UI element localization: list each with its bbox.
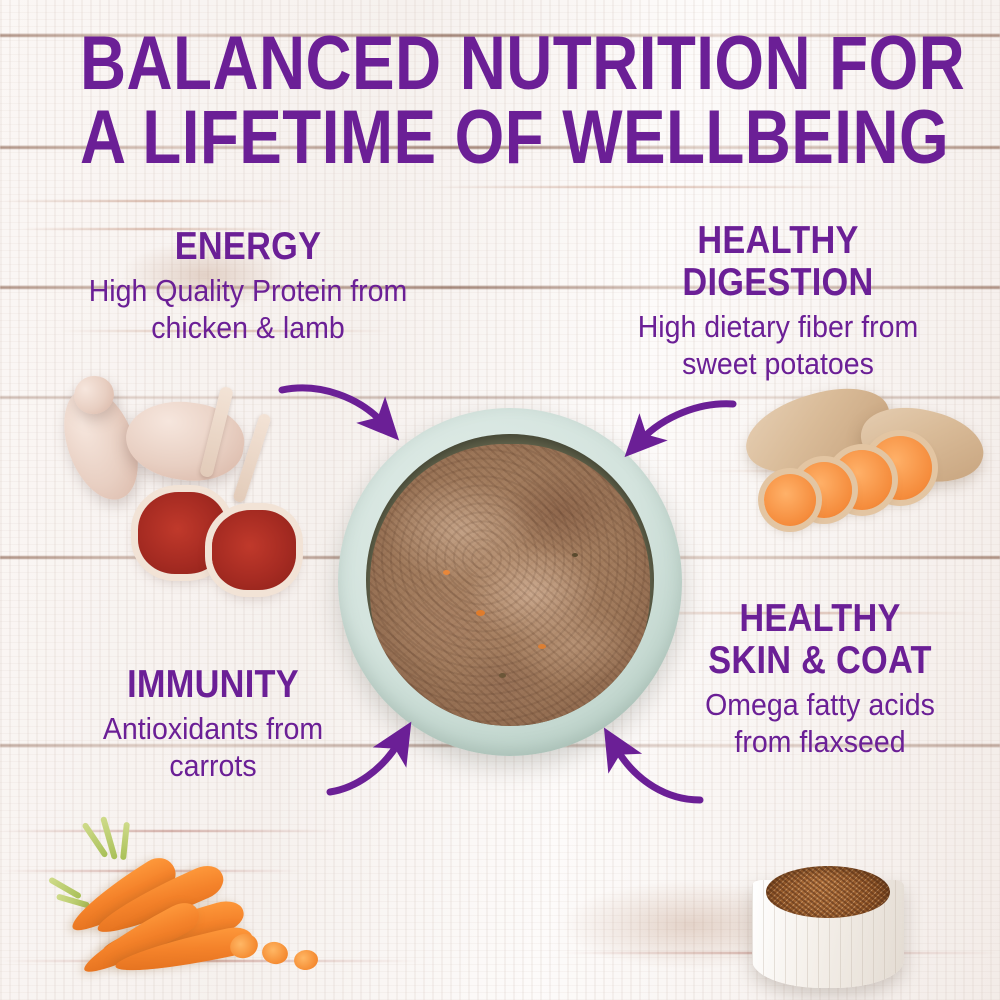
seed-fleck [572, 553, 578, 557]
benefit-energy-heading: ENERGY [72, 226, 424, 268]
benefit-energy-body-line-2: chicken & lamb [64, 309, 432, 346]
sweet-potato-slice [764, 474, 816, 526]
benefit-skin-coat-heading-line-2: SKIN & COAT [667, 640, 973, 682]
benefit-skin-coat-body-line-1: Omega fatty acids [660, 686, 980, 723]
ingredient-carrots [40, 812, 340, 1000]
flaxseed-pile [766, 866, 890, 918]
carrot-stem [120, 822, 130, 860]
benefit-skin-coat-body-line-2: from flaxseed [660, 723, 980, 760]
ingredient-flaxseed [752, 856, 912, 1000]
wood-grain [0, 200, 300, 202]
seed-fleck [499, 673, 506, 678]
pate-food [370, 444, 650, 726]
carrot-slice [293, 948, 320, 971]
benefit-healthy-digestion: HEALTHY DIGESTION High dietary fiber fro… [578, 220, 978, 382]
benefit-healthy-skin-and-coat: HEALTHY SKIN & COAT Omega fatty acids fr… [646, 598, 994, 760]
bowl-interior [366, 434, 654, 726]
headline-line-2: A LIFETIME OF WELLBEING [80, 100, 920, 176]
chicken-thigh [121, 394, 249, 488]
lamb-chop [212, 510, 296, 590]
ingredient-sweet-potatoes [740, 392, 986, 564]
wood-grain [430, 186, 850, 188]
pet-food-bowl [338, 408, 682, 756]
benefit-immunity-body-line-2: carrots [43, 747, 383, 784]
carrot-fleck [443, 570, 450, 575]
benefit-immunity-heading: IMMUNITY [50, 664, 376, 706]
benefit-healthy-digestion-heading: HEALTHY DIGESTION [602, 220, 954, 304]
benefit-immunity-body-line-1: Antioxidants from [43, 710, 383, 747]
infographic-canvas: BALANCED NUTRITION FOR A LIFETIME OF WEL… [0, 0, 1000, 1000]
carrot-slice [260, 940, 290, 967]
benefit-skin-coat-heading-line-1: HEALTHY [667, 598, 973, 640]
ingredient-chicken-and-lamb [60, 372, 320, 602]
benefit-energy: ENERGY High Quality Protein from chicken… [48, 226, 448, 346]
benefit-energy-body-line-1: High Quality Protein from [64, 272, 432, 309]
headline-line-1: BALANCED NUTRITION FOR [80, 26, 920, 102]
pate-texture [370, 444, 650, 726]
benefit-healthy-digestion-body-line-1: High dietary fiber from [594, 308, 962, 345]
benefit-healthy-digestion-body-line-2: sweet potatoes [594, 345, 962, 382]
